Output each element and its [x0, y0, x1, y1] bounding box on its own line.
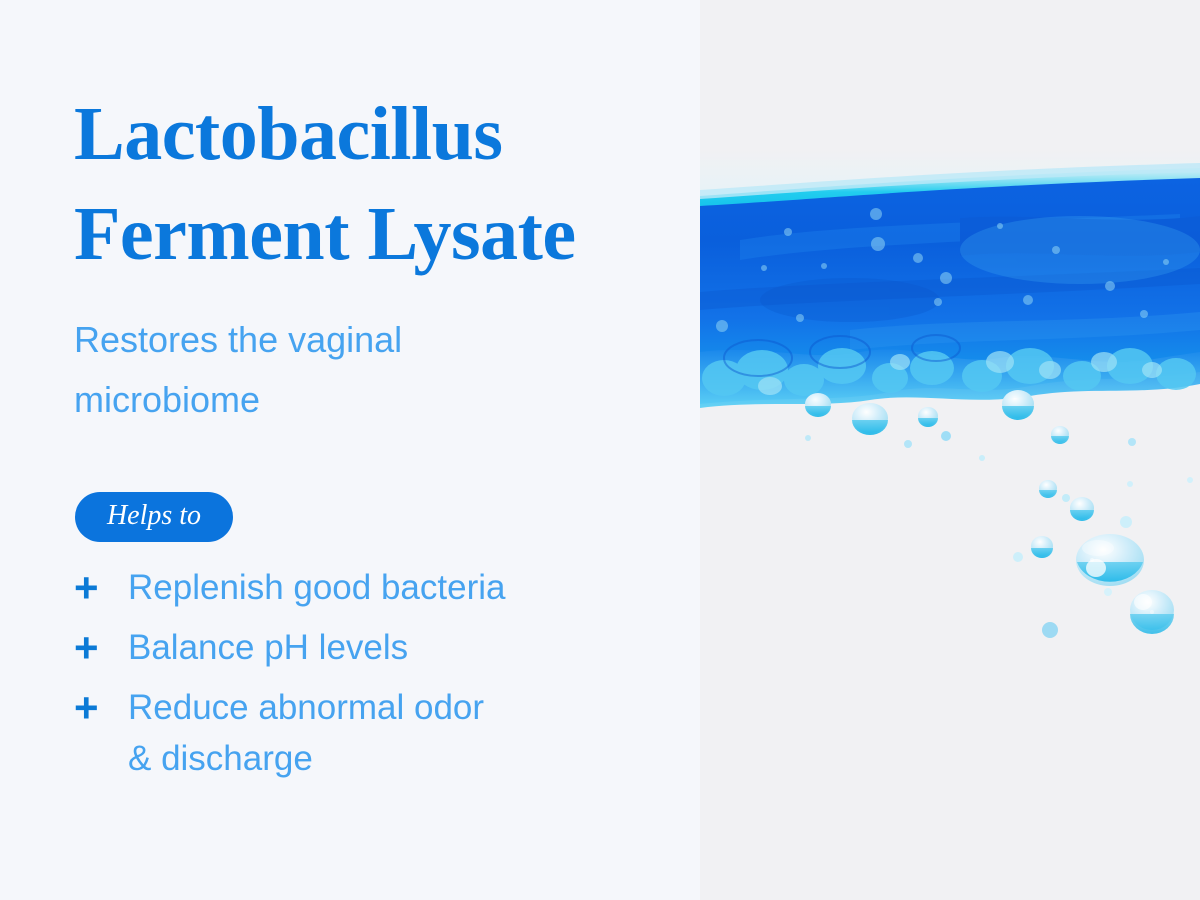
benefit-label: Replenish good bacteria — [128, 562, 674, 613]
helps-to-badge-label: Helps to — [107, 502, 201, 532]
helps-to-badge: Helps to — [75, 492, 233, 542]
plus-icon: + — [74, 682, 128, 733]
benefit-label: Balance pH levels — [128, 622, 674, 673]
text-panel: Lactobacillus Ferment Lysate Restores th… — [0, 0, 700, 900]
list-item: + Reduce abnormal odor & discharge — [74, 682, 674, 784]
water-illustration — [700, 0, 1200, 900]
subtitle: Restores the vaginal microbiome — [74, 310, 554, 430]
promo-banner: Lactobacillus Ferment Lysate Restores th… — [0, 0, 1200, 900]
water-image-panel — [700, 0, 1200, 900]
page-title: Lactobacillus Ferment Lysate — [74, 84, 674, 284]
plus-icon: + — [74, 562, 128, 613]
list-item: + Replenish good bacteria — [74, 562, 674, 613]
benefit-label: Reduce abnormal odor & discharge — [128, 682, 674, 784]
benefits-list: + Replenish good bacteria + Balance pH l… — [74, 562, 674, 793]
plus-icon: + — [74, 622, 128, 673]
list-item: + Balance pH levels — [74, 622, 674, 673]
